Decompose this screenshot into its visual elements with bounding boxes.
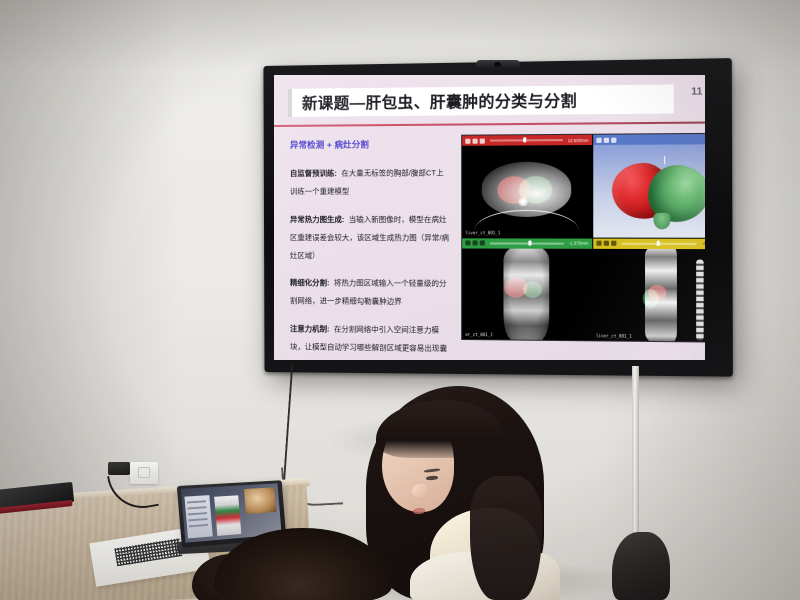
render-cursor [664, 156, 665, 164]
slide-text-column: 异常检测 + 病灶分割 自监督预训练: 在大量无标签的胸部/腹部CT上训练一个重… [290, 138, 450, 360]
pin-icon[interactable] [596, 137, 601, 142]
slide-accent-rule [274, 121, 705, 126]
slide-title-bar: 新课题—肝包虫、肝囊肿的分类与分割 [288, 85, 674, 117]
slice-slider[interactable] [490, 139, 562, 142]
bullet-head: 注意力机制: [290, 324, 329, 333]
slider-knob[interactable] [657, 241, 660, 246]
slider-knob[interactable] [523, 138, 526, 143]
webcam-lens [494, 62, 501, 67]
pane-canvas-3d[interactable] [593, 144, 705, 237]
pin-icon[interactable] [465, 138, 470, 143]
slide-bullet: 自监督预训练: 在大量无标签的胸部/腹部CT上训练一个重建模型 [290, 162, 450, 199]
chair-backrest [612, 532, 670, 600]
tv-screen: 新课题—肝包虫、肝囊肿的分类与分割 11 异常检测 + 病灶分割 自监督预训练:… [274, 75, 705, 360]
pane-canvas: liver_ct_001_1 [462, 145, 591, 237]
pin-icon[interactable] [596, 241, 601, 246]
layout-icon[interactable] [480, 240, 485, 245]
pane-canvas: er_ct_001_1 [462, 248, 591, 340]
pane-file-label: liver_ct_001_1 [465, 230, 500, 235]
eyebrow [424, 468, 440, 473]
segmentation-organ-overlay [643, 289, 659, 308]
layout-icon[interactable] [480, 138, 485, 143]
pane-file-label: er_ct_001_1 [465, 332, 492, 337]
3d-render[interactable] [593, 144, 705, 237]
webcam-icon [476, 60, 520, 69]
nose [412, 484, 426, 497]
lips [413, 508, 425, 514]
slice-slider[interactable] [621, 242, 696, 244]
viewer-pane-coronal: -1.375mm er_ct_001_1 [462, 238, 591, 340]
pane-toolbar[interactable]: -4.640mm [593, 238, 705, 249]
slide-page-number: 11 [691, 86, 702, 98]
slide-bullet: 精细化分割: 将热力图区域输入一个轻量级的分割网络，进一步精细勾勒囊肿边界 [290, 272, 450, 309]
eye-icon[interactable] [603, 241, 608, 246]
slider-knob[interactable] [528, 240, 531, 245]
laptop-ui-sidebar [184, 495, 212, 538]
spine-structure [696, 260, 703, 341]
slice-value: -4.640mm [702, 241, 705, 246]
bullet-head: 异常热力图生成: [290, 214, 344, 223]
office-chair [612, 532, 680, 600]
viewer-pane-sagittal: -4.640mm liver_ct_001_1 [593, 238, 705, 342]
layout-icon[interactable] [611, 137, 616, 142]
organ-3d-mesh-tail [653, 213, 670, 230]
table-arc-artifact [475, 209, 579, 230]
pane-file-label: liver_ct_001_1 [596, 333, 632, 339]
hair [214, 528, 392, 600]
pin-icon[interactable] [465, 240, 470, 245]
eye [426, 475, 438, 480]
slice-value: 12.500mm [568, 137, 589, 142]
power-plug [108, 462, 130, 475]
pane-canvas: liver_ct_001_1 [593, 248, 705, 341]
laptop-ui-photo [244, 487, 276, 514]
viewer-pane-axial: 12.500mm liver_ct_001_1 [462, 135, 591, 237]
pane-toolbar[interactable]: -1.375mm [462, 238, 591, 249]
slide-bullet: 注意力机制: 在分割网络中引入空间注意力模块，让模型自动学习哪些解剖区域更容易出… [290, 318, 450, 360]
bullet-head: 自监督预训练: [290, 169, 337, 178]
layout-icon[interactable] [611, 241, 616, 246]
foreground-person-head [214, 528, 392, 600]
bullet-head: 精细化分割: [290, 278, 329, 287]
eye-icon[interactable] [472, 240, 477, 245]
segmentation-organ-overlay [523, 281, 542, 298]
sun-icon[interactable] [603, 137, 608, 142]
pane-toolbar[interactable] [593, 134, 705, 145]
page-title: 新课题—肝包虫、肝囊肿的分类与分割 [292, 89, 577, 114]
slice-value: -1.375mm [569, 241, 589, 246]
wall-mounted-display: 新课题—肝包虫、肝囊肿的分类与分割 11 异常检测 + 病灶分割 自监督预训练:… [264, 66, 716, 372]
eye-icon[interactable] [472, 138, 477, 143]
hair-strand [470, 476, 542, 600]
presentation-slide: 新课题—肝包虫、肝囊肿的分类与分割 11 异常检测 + 病灶分割 自监督预训练:… [274, 75, 705, 360]
hair-bangs [376, 400, 504, 458]
slide-subtitle: 异常检测 + 病灶分割 [290, 138, 450, 151]
slide-bullet: 异常热力图生成: 当输入新图像时，模型在病灶区重建误差会较大，该区域生成热力图（… [290, 208, 450, 263]
room-photo: 新课题—肝包虫、肝囊肿的分类与分割 11 异常检测 + 病灶分割 自监督预训练:… [0, 0, 800, 600]
viewer-pane-3d [593, 134, 705, 237]
slice-slider[interactable] [490, 242, 563, 244]
medical-image-viewer: 12.500mm liver_ct_001_1 [462, 134, 705, 342]
